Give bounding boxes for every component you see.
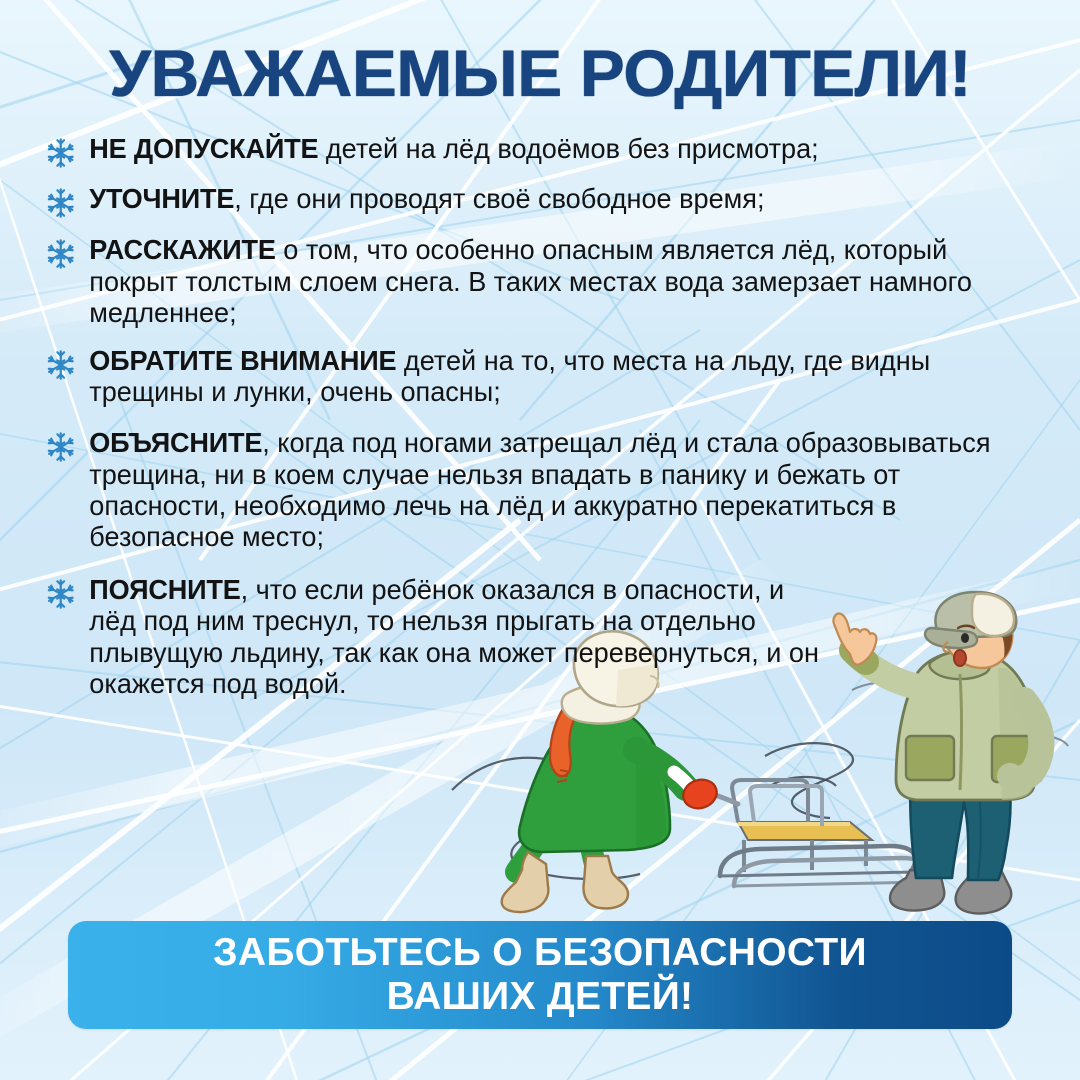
list-item-text: РАССКАЖИТЕ о том, что особенно опасным я… bbox=[89, 234, 972, 327]
sled-object bbox=[692, 780, 926, 886]
list-item-text: ПОЯСНИТЕ, что если ребёнок оказался в оп… bbox=[89, 574, 838, 699]
list-item-text: УТОЧНИТЕ, где они проводят своё свободно… bbox=[89, 183, 764, 214]
list-item-lead: УТОЧНИТЕ bbox=[89, 183, 234, 214]
list-item: ОБРАТИТЕ ВНИМАНИЕ детей на то, что места… bbox=[44, 345, 1019, 407]
page-title: УВАЖАЕМЫЕ РОДИТЕЛИ! bbox=[0, 40, 1080, 106]
list-item: ПОЯСНИТЕ, что если ребёнок оказался в оп… bbox=[44, 574, 1019, 699]
list-item: ОБЪЯСНИТЕ, когда под ногами затрещал лёд… bbox=[44, 427, 1019, 552]
list-item-text: ОБРАТИТЕ ВНИМАНИЕ детей на то, что места… bbox=[89, 345, 930, 407]
snowflake-icon bbox=[44, 136, 77, 170]
list-item-body: , где они проводят своё свободное время; bbox=[234, 183, 764, 214]
snowflake-icon bbox=[44, 237, 77, 271]
list-item: НЕ ДОПУСКАЙТЕ детей на лёд водоёмов без … bbox=[44, 133, 1019, 164]
snowflake-icon bbox=[44, 186, 77, 220]
banner-line-2: ВАШИХ ДЕТЕЙ! bbox=[213, 975, 867, 1019]
snowflake-icon bbox=[44, 577, 77, 611]
list-item: РАССКАЖИТЕ о том, что особенно опасным я… bbox=[44, 234, 1019, 328]
list-item-lead: РАССКАЖИТЕ bbox=[89, 234, 275, 265]
banner-text: ЗАБОТЬТЕСЬ О БЕЗОПАСНОСТИ ВАШИХ ДЕТЕЙ! bbox=[213, 931, 867, 1018]
snowflake-icon bbox=[44, 430, 77, 464]
list-item-lead: ОБРАТИТЕ ВНИМАНИЕ bbox=[89, 345, 396, 376]
safety-banner: ЗАБОТЬТЕСЬ О БЕЗОПАСНОСТИ ВАШИХ ДЕТЕЙ! bbox=[68, 921, 1012, 1029]
list-item-text: ОБЪЯСНИТЕ, когда под ногами затрещал лёд… bbox=[89, 427, 990, 552]
list-item-lead: ОБЪЯСНИТЕ bbox=[89, 427, 262, 458]
snowflake-icon bbox=[44, 348, 77, 382]
banner-line-1: ЗАБОТЬТЕСЬ О БЕЗОПАСНОСТИ bbox=[213, 931, 867, 975]
list-item-body: детей на лёд водоёмов без присмотра; bbox=[318, 133, 818, 164]
list-item-lead: НЕ ДОПУСКАЙТЕ bbox=[89, 133, 318, 164]
poster-root: УВАЖАЕМЫЕ РОДИТЕЛИ! НЕ ДОПУСКАЙТЕ детей … bbox=[0, 0, 1080, 1080]
list-item-lead: ПОЯСНИТЕ bbox=[89, 574, 240, 605]
list-item: УТОЧНИТЕ, где они проводят своё свободно… bbox=[44, 183, 1019, 214]
warning-list: НЕ ДОПУСКАЙТЕ детей на лёд водоёмов без … bbox=[44, 133, 1034, 713]
list-item-text: НЕ ДОПУСКАЙТЕ детей на лёд водоёмов без … bbox=[89, 133, 818, 164]
